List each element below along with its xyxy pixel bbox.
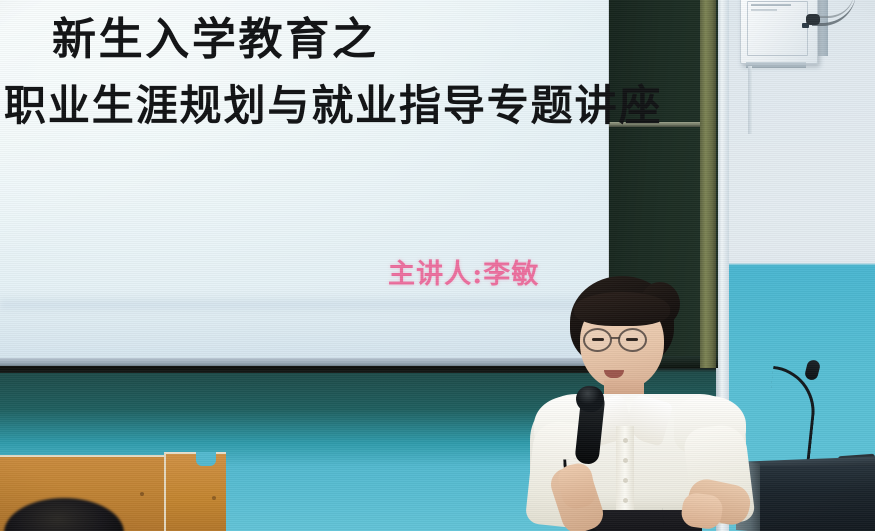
wall-conduit [748,66,752,134]
lecture-photo: 新生入学教育之 职业生涯规划与就业指导专题讲座 主讲人:李敏 [0,0,875,531]
wooden-bench-end-panel [164,452,226,531]
slide-title-line-2: 职业生涯规划与就业指导专题讲座 [4,84,662,128]
bench-screw [212,496,216,500]
speaker-fringe [574,292,670,326]
cabinet-label-mark [751,4,791,6]
podium [754,466,875,531]
bench-notch [196,452,216,466]
blouse-button [623,438,628,443]
glasses-bridge [611,337,620,339]
cabinet-label-mark-2 [751,9,777,11]
speaker-figure [512,276,760,531]
slide-title-line-1: 新生入学教育之 [52,17,378,63]
electrical-cabinet [740,0,818,64]
speaker-eye-left [592,338,604,341]
bench-screw [140,492,144,496]
speaker-eye-right [626,338,638,341]
cable-connector [806,14,820,25]
cabinet-ledge [746,62,806,68]
